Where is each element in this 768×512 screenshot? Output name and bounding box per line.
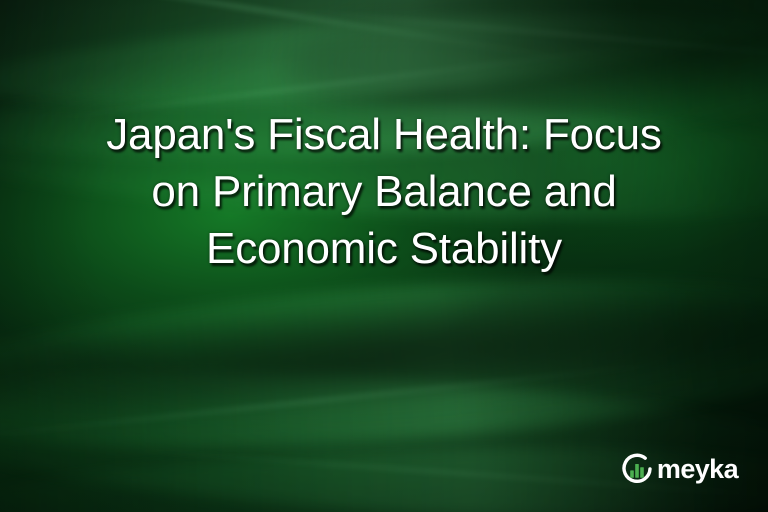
title-card: Japan's Fiscal Health: Focus on Primary … [0,0,768,512]
title-block: Japan's Fiscal Health: Focus on Primary … [0,106,768,278]
background-streak-4 [0,361,682,440]
background-wave-5 [0,349,768,512]
background-streak-3 [231,4,768,60]
meyka-circle-barchart-icon [620,452,654,486]
background-wave-4 [0,252,768,475]
brand-wordmark: meyka [657,456,738,483]
background-shadow-band-1 [0,274,768,433]
brand-logo: meyka [620,452,738,486]
page-title: Japan's Fiscal Health: Focus on Primary … [34,106,734,278]
background-streak-1 [0,0,610,67]
